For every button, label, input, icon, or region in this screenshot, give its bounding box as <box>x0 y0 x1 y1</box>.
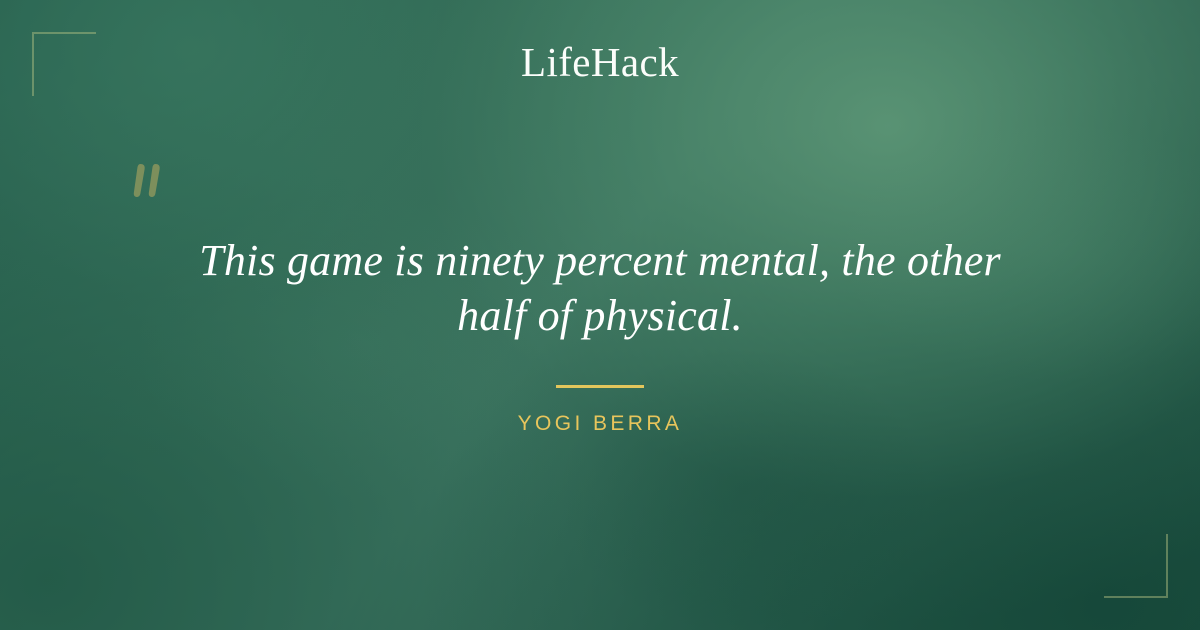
quote-text: This game is ninety percent mental, the … <box>160 234 1040 343</box>
double-quote-icon <box>128 158 176 214</box>
corner-bracket-bottom-right-icon <box>1104 534 1168 598</box>
lifehack-logo: LifeHack <box>0 38 1200 86</box>
quote-block: This game is ninety percent mental, the … <box>0 234 1200 343</box>
quote-card: LifeHack This game is ninety percent men… <box>0 0 1200 630</box>
attribution-divider <box>556 385 644 388</box>
quote-author: YOGI BERRA <box>0 412 1200 436</box>
